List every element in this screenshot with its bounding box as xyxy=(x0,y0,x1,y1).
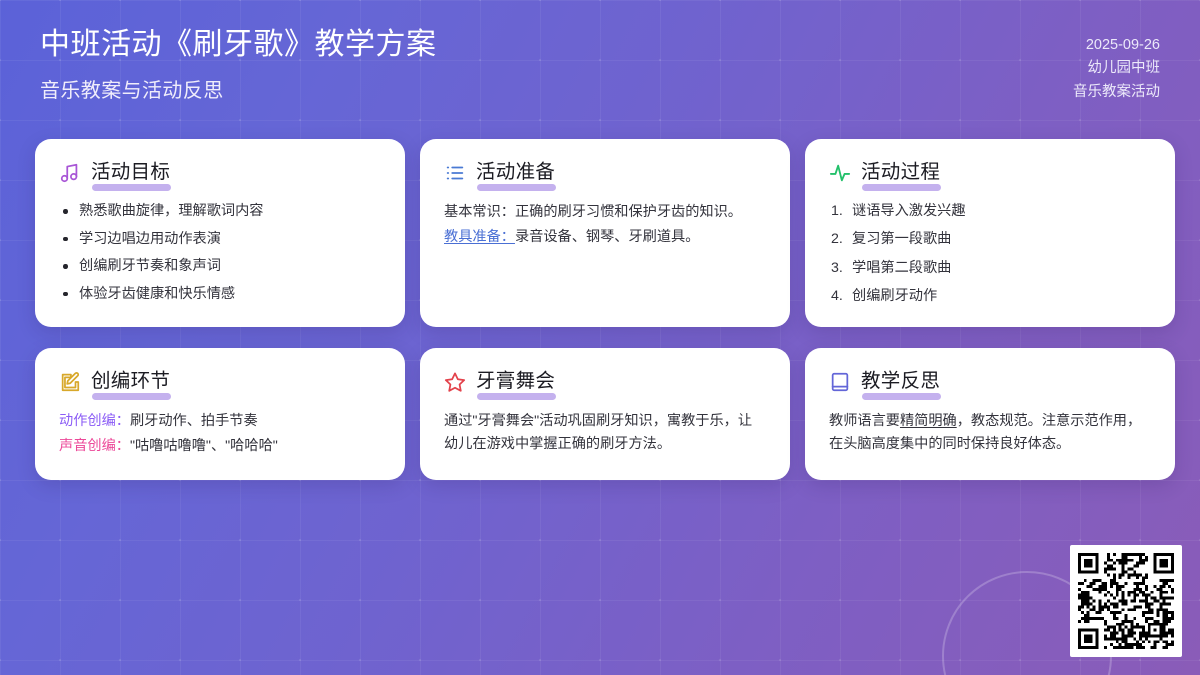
card-header: 教学反思 xyxy=(829,370,1151,393)
card-title: 活动过程 xyxy=(861,161,940,183)
list-item: 学唱第二段歌曲 xyxy=(831,258,1151,279)
card-header: 活动准备 xyxy=(444,161,766,184)
card-title-wrap: 活动目标 xyxy=(91,161,170,184)
header-meta: 2025-09-26 幼儿园中班 音乐教案活动 xyxy=(1073,26,1160,104)
card-header: 活动过程 xyxy=(829,161,1151,184)
music-note-icon xyxy=(59,162,81,184)
list-item: 谜语导入激发兴趣 xyxy=(831,201,1151,222)
page-title: 中班活动《刷牙歌》教学方案 xyxy=(40,26,437,64)
card-title-wrap: 牙膏舞会 xyxy=(476,370,555,393)
prep-line-materials: 教具准备：录音设备、钢琴、牙刷道具。 xyxy=(444,226,766,249)
title-underline xyxy=(477,393,556,400)
card-title-wrap: 创编环节 xyxy=(91,370,170,393)
card-toothpaste-dance[interactable]: 牙膏舞会 通过"牙膏舞会"活动巩固刷牙知识，寓教于乐，让幼儿在游戏中掌握正确的刷… xyxy=(420,348,790,480)
list-item: 创编刷牙节奏和象声词 xyxy=(61,256,381,278)
title-underline xyxy=(477,184,556,191)
card-header: 活动目标 xyxy=(59,161,381,184)
card-title: 创编环节 xyxy=(91,370,170,392)
card-title-wrap: 活动准备 xyxy=(476,161,555,184)
reflection-part-1: 教师语言要 xyxy=(829,413,900,429)
meta-category: 音乐教案活动 xyxy=(1073,81,1160,104)
page-subtitle: 音乐教案与活动反思 xyxy=(40,74,437,103)
poster-header: 中班活动《刷牙歌》教学方案 音乐教案与活动反思 2025-09-26 幼儿园中班… xyxy=(0,0,1200,130)
dance-description: 通过"牙膏舞会"活动巩固刷牙知识，寓教于乐，让幼儿在游戏中掌握正确的刷牙方法。 xyxy=(444,410,766,456)
title-underline xyxy=(862,393,941,400)
qr-code[interactable] xyxy=(1070,545,1182,657)
card-activity-preparation[interactable]: 活动准备 基本常识：正确的刷牙习惯和保护牙齿的知识。 教具准备：录音设备、钢琴、… xyxy=(420,139,790,327)
card-header: 创编环节 xyxy=(59,370,381,393)
list-icon xyxy=(444,162,466,184)
creation-label-sound: 声音创编： xyxy=(59,438,130,454)
card-title-wrap: 活动过程 xyxy=(861,161,940,184)
title-underline xyxy=(92,393,171,400)
creation-value-sound: "咕噜咕噜噜"、"哈哈哈" xyxy=(130,438,278,454)
book-icon xyxy=(829,371,851,393)
creation-label-motion: 动作创编： xyxy=(59,413,130,429)
card-title: 教学反思 xyxy=(861,370,940,392)
list-item: 体验牙齿健康和快乐情感 xyxy=(61,284,381,306)
prep-label-materials[interactable]: 教具准备： xyxy=(444,229,515,245)
activity-pulse-icon xyxy=(829,162,851,184)
card-body: 谜语导入激发兴趣 复习第一段歌曲 学唱第二段歌曲 创编刷牙动作 xyxy=(829,201,1151,307)
creation-line-motion: 动作创编：刷牙动作、拍手节奏 xyxy=(59,410,381,433)
meta-date: 2025-09-26 xyxy=(1073,34,1160,57)
card-teaching-reflection[interactable]: 教学反思 教师语言要精简明确，教态规范。注意示范作用，在头脑高度集中的同时保持良… xyxy=(805,348,1175,480)
reflection-emphasis: 精简明确 xyxy=(900,413,957,429)
card-body: 通过"牙膏舞会"活动巩固刷牙知识，寓教于乐，让幼儿在游戏中掌握正确的刷牙方法。 xyxy=(444,410,766,456)
star-icon xyxy=(444,371,466,393)
prep-value-materials: 录音设备、钢琴、牙刷道具。 xyxy=(515,229,699,245)
title-underline xyxy=(92,184,171,191)
card-body: 熟悉歌曲旋律，理解歌词内容 学习边唱边用动作表演 创编刷牙节奏和象声词 体验牙齿… xyxy=(59,201,381,305)
card-title: 牙膏舞会 xyxy=(476,370,555,392)
edit-square-icon xyxy=(59,371,81,393)
card-body: 动作创编：刷牙动作、拍手节奏 声音创编："咕噜咕噜噜"、"哈哈哈" xyxy=(59,410,381,458)
creation-value-motion: 刷牙动作、拍手节奏 xyxy=(130,413,258,429)
prep-value-basic: 正确的刷牙习惯和保护牙齿的知识。 xyxy=(515,204,742,220)
meta-org: 幼儿园中班 xyxy=(1073,57,1160,80)
card-creation-section[interactable]: 创编环节 动作创编：刷牙动作、拍手节奏 声音创编："咕噜咕噜噜"、"哈哈哈" xyxy=(35,348,405,480)
title-underline xyxy=(862,184,941,191)
card-activity-goals[interactable]: 活动目标 熟悉歌曲旋律，理解歌词内容 学习边唱边用动作表演 创编刷牙节奏和象声词… xyxy=(35,139,405,327)
card-title: 活动目标 xyxy=(91,161,170,183)
prep-line-basic: 基本常识：正确的刷牙习惯和保护牙齿的知识。 xyxy=(444,201,766,224)
goals-list: 熟悉歌曲旋律，理解歌词内容 学习边唱边用动作表演 创编刷牙节奏和象声词 体验牙齿… xyxy=(59,201,381,305)
cards-grid: 活动目标 熟悉歌曲旋律，理解歌词内容 学习边唱边用动作表演 创编刷牙节奏和象声词… xyxy=(0,130,1200,480)
card-body: 基本常识：正确的刷牙习惯和保护牙齿的知识。 教具准备：录音设备、钢琴、牙刷道具。 xyxy=(444,201,766,249)
card-activity-process[interactable]: 活动过程 谜语导入激发兴趣 复习第一段歌曲 学唱第二段歌曲 创编刷牙动作 xyxy=(805,139,1175,327)
card-header: 牙膏舞会 xyxy=(444,370,766,393)
list-item: 复习第一段歌曲 xyxy=(831,229,1151,250)
list-item: 熟悉歌曲旋律，理解歌词内容 xyxy=(61,201,381,223)
card-title-wrap: 教学反思 xyxy=(861,370,940,393)
process-list: 谜语导入激发兴趣 复习第一段歌曲 学唱第二段歌曲 创编刷牙动作 xyxy=(829,201,1151,307)
qr-code-image xyxy=(1078,553,1174,649)
list-item: 创编刷牙动作 xyxy=(831,286,1151,307)
card-body: 教师语言要精简明确，教态规范。注意示范作用，在头脑高度集中的同时保持良好体态。 xyxy=(829,410,1151,456)
card-title: 活动准备 xyxy=(476,161,555,183)
poster-canvas: 中班活动《刷牙歌》教学方案 音乐教案与活动反思 2025-09-26 幼儿园中班… xyxy=(0,0,1200,675)
title-block: 中班活动《刷牙歌》教学方案 音乐教案与活动反思 xyxy=(40,26,437,103)
creation-line-sound: 声音创编："咕噜咕噜噜"、"哈哈哈" xyxy=(59,435,381,458)
reflection-description: 教师语言要精简明确，教态规范。注意示范作用，在头脑高度集中的同时保持良好体态。 xyxy=(829,410,1151,456)
list-item: 学习边唱边用动作表演 xyxy=(61,229,381,251)
prep-label-basic: 基本常识： xyxy=(444,204,515,220)
